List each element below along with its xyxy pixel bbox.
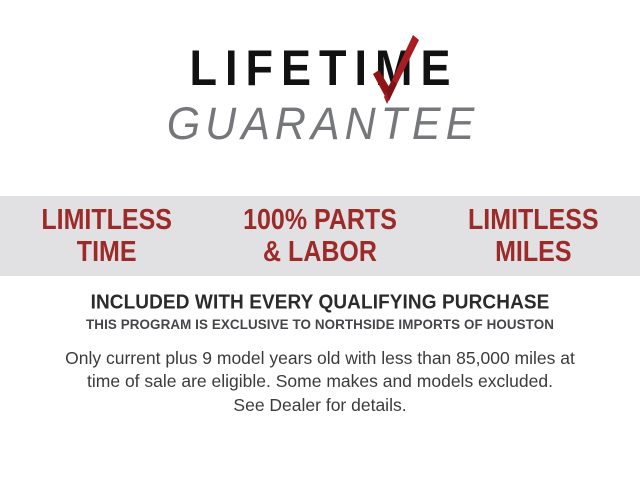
logo-block: LIFETIME GUARANTEE (0, 48, 640, 145)
fineprint-line: Only current plus 9 model years old with… (28, 347, 612, 370)
feature-line-1: 100% PARTS (213, 204, 426, 236)
features-band: LIMITLESS TIME 100% PARTS & LABOR LIMITL… (0, 196, 640, 276)
feature-line-2: TIME (0, 236, 213, 268)
feature-column-limitless-time: LIMITLESS TIME (0, 204, 213, 267)
lower-copy-block: INCLUDED WITH EVERY QUALIFYING PURCHASE … (0, 292, 640, 417)
lifetime-guarantee-advertisement: LIFETIME GUARANTEE LIMITLESS TIME 100% P… (0, 0, 640, 480)
feature-line-2: MILES (427, 236, 640, 268)
fineprint-line: time of sale are eligible. Some makes an… (28, 370, 612, 393)
feature-line-1: LIMITLESS (0, 204, 213, 236)
subheadline-text: THIS PROGRAM IS EXCLUSIVE TO NORTHSIDE I… (0, 318, 640, 333)
logo-lockup: LIFETIME GUARANTEE (161, 48, 480, 145)
headline-text: INCLUDED WITH EVERY QUALIFYING PURCHASE (0, 291, 640, 314)
logo-primary-text: LIFETIME (161, 43, 480, 93)
fineprint-block: Only current plus 9 model years old with… (0, 347, 640, 417)
feature-column-limitless-miles: LIMITLESS MILES (427, 204, 640, 267)
fineprint-line: See Dealer for details. (28, 394, 612, 417)
feature-line-1: LIMITLESS (427, 204, 640, 236)
logo-secondary-text: GUARANTEE (161, 102, 480, 147)
feature-line-2: & LABOR (213, 236, 426, 268)
feature-column-parts-labor: 100% PARTS & LABOR (213, 204, 426, 267)
